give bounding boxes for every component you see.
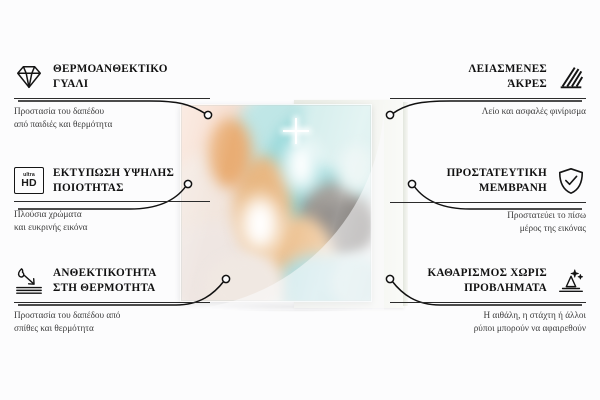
feature-description: Η αιθάλη, η στάχτη ή άλλοι ρύποι μπορούν… xyxy=(390,309,586,335)
feature-description: Προστασία του δαπέδου από σπίθες και θερ… xyxy=(14,309,210,335)
ultra-hd-icon: ultra HD xyxy=(14,167,44,194)
infographic-stage: ΘΕΡΜΟΑΝΘΕΚΤΙΚΟ ΓΥΑΛΙ Προστασία του δαπέδ… xyxy=(0,0,600,400)
diamond-icon xyxy=(14,62,44,92)
feature-high-quality-print[interactable]: ultra HD ΕΚΤΥΠΩΣΗ ΥΨΗΛΗΣ ΠΟΙΟΤΗΤΑΣ Πλούσ… xyxy=(14,166,210,234)
feature-protective-membrane[interactable]: ΠΡΟΣΤΑΤΕΥΤΙΚΗ ΜΕΜΒΡΑΝΗ Προστατεύει το πί… xyxy=(390,166,586,235)
product-image xyxy=(176,96,412,312)
divider xyxy=(390,202,586,203)
flame-deflect-icon xyxy=(14,266,44,296)
feature-description: Λείο και ασφαλές φινίρισμα xyxy=(390,105,586,118)
feature-easy-cleaning[interactable]: ΚΑΘΑΡΙΣΜΟΣ ΧΩΡΙΣ ΠΡΟΒΛΗΜΑΤΑ Η αιθάλη, η … xyxy=(390,266,586,335)
ultra-hd-large-label: HD xyxy=(21,178,37,189)
sponge-sparkle-icon xyxy=(556,266,586,296)
feature-heat-durability[interactable]: ΑΝΘΕΚΤΙΚΟΤΗΤΑ ΣΤΗ ΘΕΡΜΟΤΗΤΑ Προστασία το… xyxy=(14,266,210,335)
feature-header: ΠΡΟΣΤΑΤΕΥΤΙΚΗ ΜΕΜΒΡΑΝΗ xyxy=(390,166,586,196)
feature-title: ΑΝΘΕΚΤΙΚΟΤΗΤΑ ΣΤΗ ΘΕΡΜΟΤΗΤΑ xyxy=(53,266,157,295)
divider xyxy=(390,302,586,303)
feature-header: ΛΕΙΑΣΜΕΝΕΣ ΆΚΡΕΣ xyxy=(390,62,586,92)
divider xyxy=(14,302,210,303)
feature-description: Προστατεύει το πίσω μέρος της εικόνας xyxy=(390,209,586,235)
feature-heat-resistant-glass[interactable]: ΘΕΡΜΟΑΝΘΕΚΤΙΚΟ ΓΥΑΛΙ Προστασία του δαπέδ… xyxy=(14,62,210,131)
feature-description: Πλούσια χρώματα και ευκρινής εικόνα xyxy=(14,208,210,234)
feature-header: ΑΝΘΕΚΤΙΚΟΤΗΤΑ ΣΤΗ ΘΕΡΜΟΤΗΤΑ xyxy=(14,266,210,296)
feature-header: ΚΑΘΑΡΙΣΜΟΣ ΧΩΡΙΣ ΠΡΟΒΛΗΜΑΤΑ xyxy=(390,266,586,296)
feature-polished-edges[interactable]: ΛΕΙΑΣΜΕΝΕΣ ΆΚΡΕΣ Λείο και ασφαλές φινίρι… xyxy=(390,62,586,118)
feature-header: ultra HD ΕΚΤΥΠΩΣΗ ΥΨΗΛΗΣ ΠΟΙΟΤΗΤΑΣ xyxy=(14,166,210,195)
divider xyxy=(14,201,210,202)
feature-title: ΕΚΤΥΠΩΣΗ ΥΨΗΛΗΣ ΠΟΙΟΤΗΤΑΣ xyxy=(53,166,174,195)
feature-header: ΘΕΡΜΟΑΝΘΕΚΤΙΚΟ ΓΥΑΛΙ xyxy=(14,62,210,92)
feature-title: ΚΑΘΑΡΙΣΜΟΣ ΧΩΡΙΣ ΠΡΟΒΛΗΜΑΤΑ xyxy=(427,266,547,295)
feature-title: ΛΕΙΑΣΜΕΝΕΣ ΆΚΡΕΣ xyxy=(468,62,547,91)
feature-title: ΠΡΟΣΤΑΤΕΥΤΙΚΗ ΜΕΜΒΡΑΝΗ xyxy=(447,166,547,195)
hatched-edge-icon xyxy=(556,62,586,92)
divider xyxy=(14,98,210,99)
feature-title: ΘΕΡΜΟΑΝΘΕΚΤΙΚΟ ΓΥΑΛΙ xyxy=(53,62,168,91)
shield-check-icon xyxy=(556,166,586,196)
divider xyxy=(390,98,586,99)
feature-description: Προστασία του δαπέδου από παιδιές και θε… xyxy=(14,105,210,131)
